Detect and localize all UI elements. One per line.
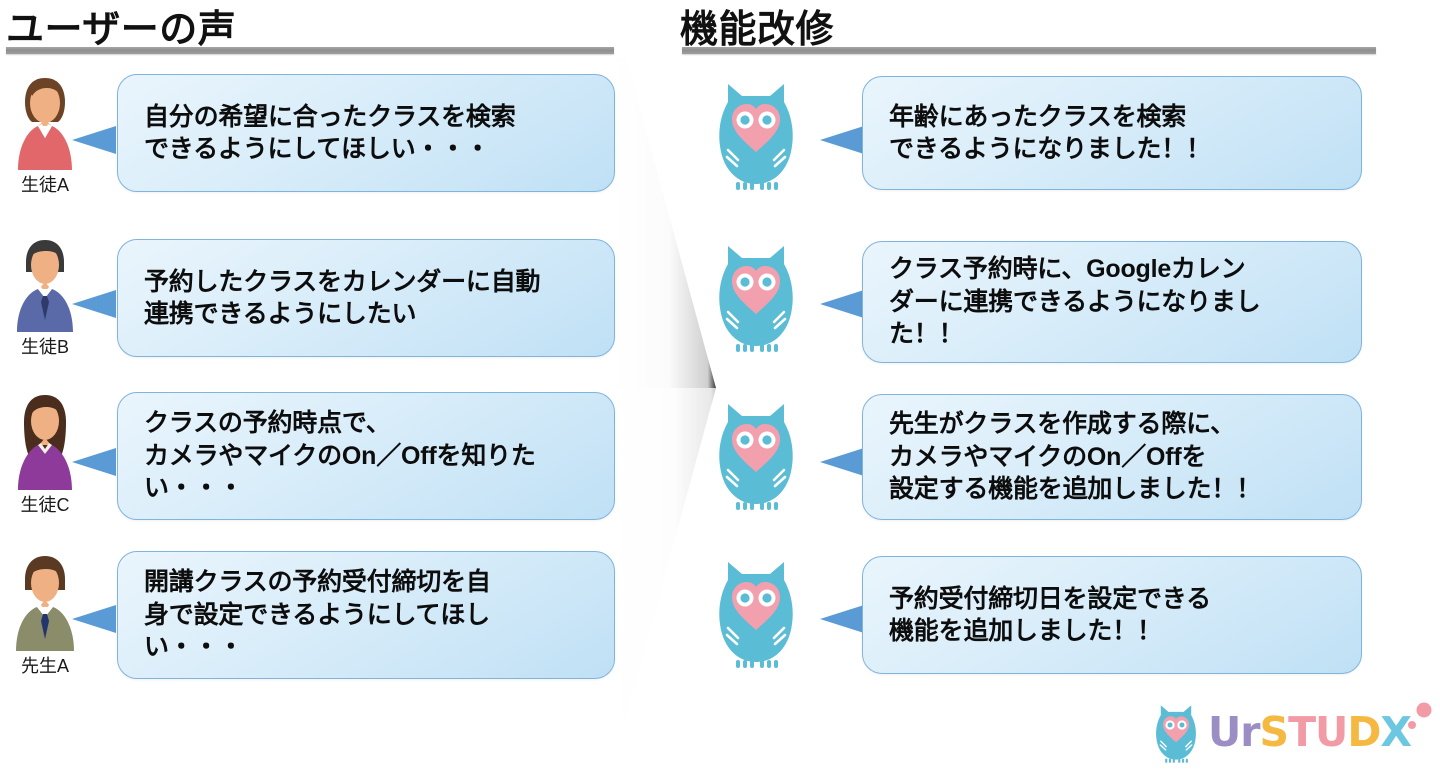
speech-tail-left-3 (72, 448, 116, 476)
speech-tail-right-2 (820, 290, 864, 318)
voice-bubble-3[interactable]: クラスの予約時点で、 カメラやマイクのOn／Offを知りた い・・・ (117, 392, 615, 520)
persona-label: 先生A (4, 652, 86, 678)
improvement-bubble-text: 先生がクラスを作成する際に、 カメラやマイクのOn／Offを 設定する機能を追加… (889, 408, 1261, 506)
voice-bubble-text: クラスの予約時点で、 カメラやマイクのOn／Offを知りた い・・・ (144, 407, 536, 505)
female-student-long-hair-avatar-icon (12, 390, 78, 490)
logo-letter: D (1347, 708, 1380, 756)
logo-letter: S (1260, 708, 1289, 756)
improvement-bubble-text: 予約受付締切日を設定できる 機能を追加しました！！ (889, 583, 1211, 648)
voice-bubble-text: 自分の希望に合ったクラスを検索 できるようにしてほしい・・・ (144, 101, 516, 166)
improvement-bubble-1[interactable]: 年齢にあったクラスを検索 できるようになりました！！ (862, 76, 1362, 190)
logo-wordmark: UrSTUDX (1208, 708, 1411, 756)
female-student-avatar-icon (12, 72, 78, 170)
speech-tail-left-2 (72, 290, 116, 318)
speech-tail-right-3 (820, 448, 864, 476)
logo-dots-icon (1407, 701, 1433, 747)
owl-icon-wrap-4 (708, 552, 804, 670)
speech-tail-left-4 (72, 605, 116, 633)
owl-mascot-icon (712, 236, 800, 354)
owl-mascot-icon (712, 74, 800, 192)
improvement-bubble-3[interactable]: 先生がクラスを作成する際に、 カメラやマイクのOn／Offを 設定する機能を追加… (862, 394, 1362, 520)
voice-bubble-text: 開講クラスの予約受付締切を自 身で設定できるようにしてほし い・・・ (144, 566, 491, 664)
slide-canvas: ユーザーの声 機能改修 (0, 0, 1440, 777)
logo-letter: T (1288, 708, 1315, 756)
persona-label: 生徒A (4, 171, 86, 197)
right-title-rule (682, 47, 1376, 54)
left-title-rule (6, 47, 614, 54)
voice-bubble-text: 予約したクラスをカレンダーに自動 連携できるようにしたい (144, 266, 540, 331)
owl-icon-wrap-1 (708, 74, 804, 192)
male-teacher-avatar-icon (12, 551, 78, 651)
male-student-avatar-icon (12, 234, 78, 332)
owl-logo-icon (1150, 700, 1202, 764)
speech-tail-right-1 (820, 126, 864, 154)
speech-tail-right-4 (820, 605, 864, 633)
voice-bubble-2[interactable]: 予約したクラスをカレンダーに自動 連携できるようにしたい (117, 239, 615, 357)
improvement-bubble-text: クラス予約時に、Googleカレン ダーに連携できるようになりまし た！！ (889, 253, 1261, 351)
persona-label: 生徒C (4, 491, 86, 517)
urstudx-logo: UrSTUDX (1150, 700, 1433, 764)
improvement-bubble-2[interactable]: クラス予約時に、Googleカレン ダーに連携できるようになりまし た！！ (862, 241, 1362, 363)
owl-icon-wrap-2 (708, 236, 804, 354)
right-column-title: 機能改修 (680, 0, 834, 53)
left-column-title: ユーザーの声 (6, 0, 236, 53)
owl-mascot-icon (712, 552, 800, 670)
logo-letter: U (1208, 708, 1240, 756)
improvement-bubble-text: 年齢にあったクラスを検索 できるようになりました！！ (889, 101, 1211, 166)
improvement-bubble-4[interactable]: 予約受付締切日を設定できる 機能を追加しました！！ (862, 556, 1362, 674)
logo-letter: U (1315, 708, 1347, 756)
owl-icon-wrap-3 (708, 394, 804, 512)
voice-bubble-4[interactable]: 開講クラスの予約受付締切を自 身で設定できるようにしてほし い・・・ (117, 551, 615, 679)
persona-label: 生徒B (4, 333, 86, 359)
owl-mascot-icon (712, 394, 800, 512)
voice-bubble-1[interactable]: 自分の希望に合ったクラスを検索 できるようにしてほしい・・・ (117, 74, 615, 192)
logo-letter: r (1240, 708, 1259, 756)
speech-tail-left-1 (72, 126, 116, 154)
